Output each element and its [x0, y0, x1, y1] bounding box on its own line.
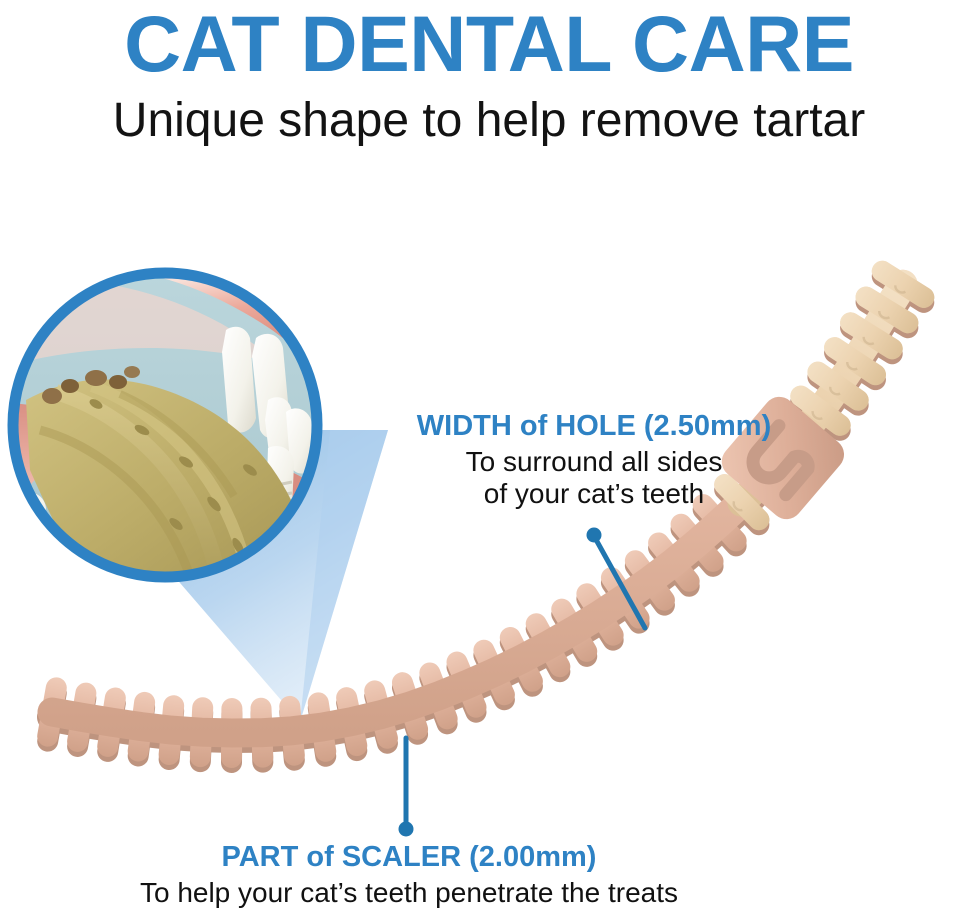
- callout-scaler-heading: PART of SCALER (2.00mm): [89, 840, 729, 874]
- callout-width-heading: WIDTH of HOLE (2.50mm): [389, 409, 799, 443]
- page-subtitle: Unique shape to help remove tartar: [0, 86, 978, 150]
- callout-width-body-line1: To surround all sides: [389, 443, 799, 478]
- page-title: CAT DENTAL CARE: [0, 0, 978, 86]
- leader-line-part-of-scaler: [399, 738, 414, 837]
- callout-scaler-body-line1: To help your cat’s teeth penetrate the t…: [89, 874, 729, 909]
- header-block: CAT DENTAL CARE Unique shape to help rem…: [0, 0, 978, 150]
- product-infographic: CAT DENTAL CARE Unique shape to help rem…: [0, 0, 978, 918]
- callout-width-of-hole: WIDTH of HOLE (2.50mm) To surround all s…: [389, 409, 799, 510]
- callout-width-body-line2: of your cat’s teeth: [389, 478, 799, 510]
- callout-part-of-scaler: PART of SCALER (2.00mm) To help your cat…: [89, 840, 729, 909]
